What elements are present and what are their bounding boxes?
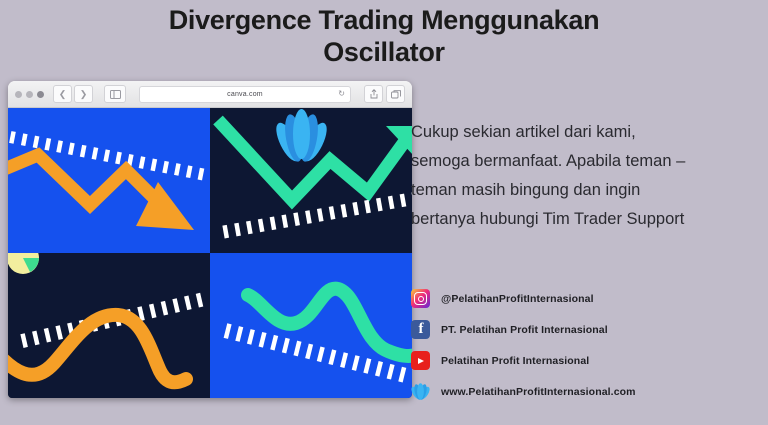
share-icon[interactable]: [364, 85, 383, 103]
page-title: Divergence Trading Menggunakan Oscillato…: [0, 4, 768, 68]
social-label-facebook: PT. Pelatihan Profit Internasional: [441, 324, 608, 336]
chevron-left-icon[interactable]: ❮: [53, 85, 72, 103]
bottom-left-graphic: [8, 253, 210, 398]
quadrant-top-left: [8, 108, 210, 253]
quadrant-bottom-right: [210, 253, 412, 398]
pie-chart: [8, 253, 39, 274]
instagram-icon: [411, 289, 430, 308]
social-item-website[interactable]: www.PelatihanProfitInternasional.com: [411, 376, 765, 407]
tabs-icon[interactable]: [386, 85, 405, 103]
browser-toolbar: ❮ ❯ canva.com ↻: [8, 81, 412, 108]
lotus-icon: [411, 382, 430, 401]
canvas-artboard: [8, 108, 412, 398]
bottom-right-graphic: [210, 253, 412, 398]
minimize-button[interactable]: [26, 91, 33, 98]
window-controls: [15, 91, 44, 98]
paragraph-line-3: teman masih bingung dan ingin: [411, 176, 765, 205]
orange-wavy-line: [8, 315, 186, 382]
address-bar[interactable]: canva.com ↻: [139, 86, 351, 103]
social-links-list: @PelatihanProfitInternasional f PT. Pela…: [411, 283, 765, 407]
social-label-website: www.PelatihanProfitInternasional.com: [441, 386, 636, 398]
white-dashed-ascending-line: [225, 188, 412, 238]
top-left-graphic: [8, 108, 210, 253]
lotus-flower-logo: [272, 109, 332, 164]
page-title-line-1: Divergence Trading Menggunakan: [169, 5, 600, 35]
page-title-line-2: Oscillator: [70, 36, 698, 68]
facebook-icon: f: [411, 320, 430, 339]
social-label-instagram: @PelatihanProfitInternasional: [441, 293, 594, 305]
top-right-graphic: [210, 108, 412, 253]
maximize-button[interactable]: [37, 91, 44, 98]
quadrant-bottom-left: [8, 253, 210, 398]
close-button[interactable]: [15, 91, 22, 98]
navigation-buttons: ❮ ❯: [53, 85, 93, 103]
social-item-youtube[interactable]: Pelatihan Profit Internasional: [411, 345, 765, 376]
social-item-facebook[interactable]: f PT. Pelatihan Profit Internasional: [411, 314, 765, 345]
social-label-youtube: Pelatihan Profit Internasional: [441, 355, 589, 367]
social-item-instagram[interactable]: @PelatihanProfitInternasional: [411, 283, 765, 314]
youtube-icon: [411, 351, 430, 370]
paragraph-line-2: semoga bermanfaat. Apabila teman –: [411, 147, 765, 176]
paragraph-line-4: bertanya hubungi Tim Trader Support: [411, 205, 765, 234]
toolbar-right-buttons: [364, 85, 405, 103]
paragraph-line-1: Cukup sekian artikel dari kami,: [411, 118, 765, 147]
quadrant-top-right: [210, 108, 412, 253]
browser-window: ❮ ❯ canva.com ↻: [8, 81, 412, 398]
url-text: canva.com: [227, 91, 263, 98]
sidebar-toggle-icon[interactable]: [104, 85, 126, 103]
chevron-right-icon[interactable]: ❯: [74, 85, 93, 103]
reload-icon[interactable]: ↻: [338, 90, 345, 98]
body-paragraph: Cukup sekian artikel dari kami, semoga b…: [411, 118, 765, 234]
